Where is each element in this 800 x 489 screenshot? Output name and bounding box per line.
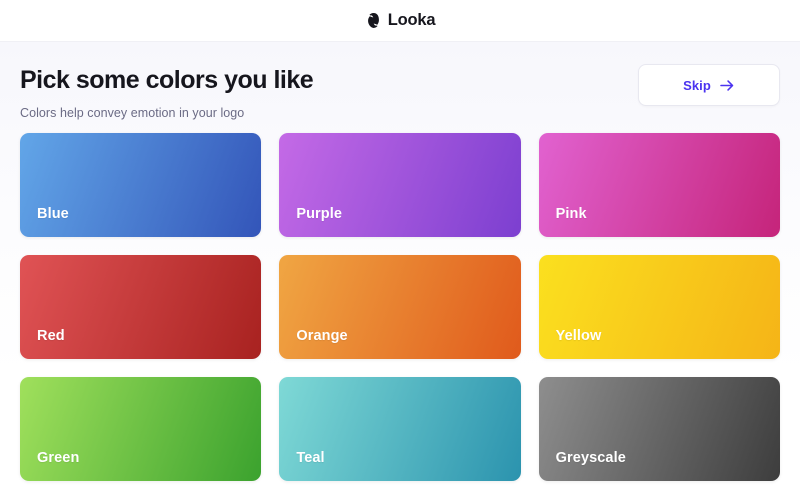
color-card-label: Orange — [296, 328, 347, 344]
page-header-row: Pick some colors you like Colors help co… — [12, 42, 788, 120]
color-card-label: Greyscale — [556, 450, 626, 466]
color-card-label: Teal — [296, 450, 324, 466]
brand-logo[interactable]: Looka — [365, 12, 436, 29]
color-card-teal[interactable]: Teal — [279, 377, 520, 481]
color-card-orange[interactable]: Orange — [279, 255, 520, 359]
color-card-label: Purple — [296, 206, 342, 222]
page-body: Pick some colors you like Colors help co… — [0, 42, 800, 489]
color-card-yellow[interactable]: Yellow — [539, 255, 780, 359]
arrow-right-icon — [720, 79, 735, 92]
skip-button[interactable]: Skip — [638, 64, 780, 106]
color-options-grid: BluePurplePinkRedOrangeYellowGreenTealGr… — [12, 133, 788, 481]
color-card-red[interactable]: Red — [20, 255, 261, 359]
color-card-label: Blue — [37, 206, 69, 222]
color-card-label: Green — [37, 450, 79, 466]
skip-button-label: Skip — [683, 78, 711, 93]
brand-name: Looka — [388, 12, 436, 29]
looka-logo-icon — [365, 12, 382, 29]
color-card-label: Pink — [556, 206, 587, 222]
page-heading-group: Pick some colors you like Colors help co… — [20, 62, 313, 120]
page-title: Pick some colors you like — [20, 66, 313, 95]
color-card-purple[interactable]: Purple — [279, 133, 520, 237]
color-card-green[interactable]: Green — [20, 377, 261, 481]
page-subtitle: Colors help convey emotion in your logo — [20, 106, 313, 120]
app-header: Looka — [0, 0, 800, 42]
color-card-blue[interactable]: Blue — [20, 133, 261, 237]
color-card-pink[interactable]: Pink — [539, 133, 780, 237]
color-card-greyscale[interactable]: Greyscale — [539, 377, 780, 481]
color-card-label: Yellow — [556, 328, 602, 344]
color-card-label: Red — [37, 328, 65, 344]
